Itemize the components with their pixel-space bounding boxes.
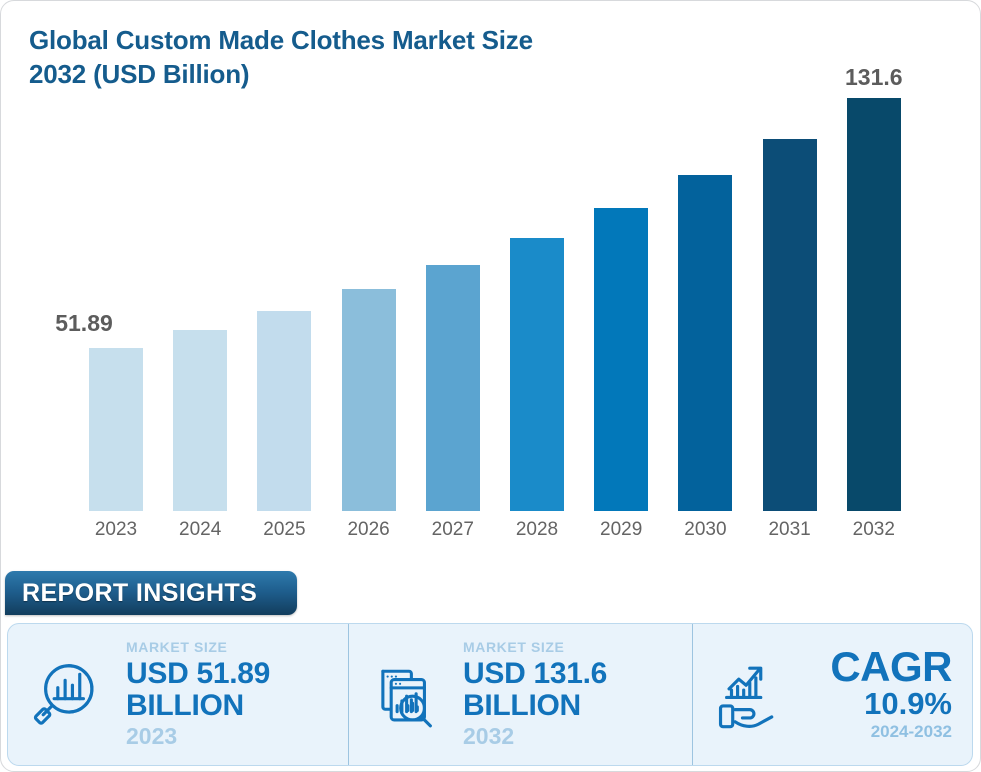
bar-2026 bbox=[342, 289, 396, 511]
x-axis-tick-2028: 2028 bbox=[493, 519, 581, 541]
x-axis-tick-2023: 2023 bbox=[72, 519, 160, 541]
cagr-label: CAGR bbox=[803, 646, 952, 687]
infographic-card: Global Custom Made Clothes Market Size 2… bbox=[0, 0, 981, 772]
x-axis-tick-2027: 2027 bbox=[409, 519, 497, 541]
insight-card-cagr: CAGR 10.9% 2024-2032 bbox=[692, 624, 972, 765]
bar-2029 bbox=[594, 208, 648, 511]
bar-2032 bbox=[847, 98, 901, 511]
x-axis-tick-2031: 2031 bbox=[746, 519, 834, 541]
insight-card-market-size-2032: MARKET SIZE USD 131.6 BILLION 2032 bbox=[348, 624, 692, 765]
x-axis-tick-2024: 2024 bbox=[156, 519, 244, 541]
bar-2031 bbox=[763, 139, 817, 511]
cagr-value: 10.9% bbox=[803, 687, 952, 721]
card-value-line-1: USD 131.6 bbox=[463, 658, 686, 690]
x-axis-tick-2032: 2032 bbox=[830, 519, 918, 541]
bar-2023 bbox=[89, 348, 143, 511]
magnifier-bar-chart-icon bbox=[14, 656, 126, 734]
x-axis-tick-2025: 2025 bbox=[240, 519, 328, 541]
bar-value-label-2032: 131.6 bbox=[817, 64, 931, 91]
card-value-line-2: BILLION bbox=[463, 690, 686, 722]
report-insights-banner: REPORT INSIGHTS bbox=[5, 571, 297, 615]
hand-growth-chart-icon bbox=[699, 656, 803, 734]
card-caption: MARKET SIZE bbox=[126, 640, 342, 655]
x-axis-tick-2026: 2026 bbox=[325, 519, 413, 541]
x-axis-tick-2029: 2029 bbox=[577, 519, 665, 541]
card-year: 2023 bbox=[126, 723, 342, 749]
cagr-range: 2024-2032 bbox=[803, 722, 952, 742]
card-year: 2032 bbox=[463, 723, 686, 749]
x-axis-tick-2030: 2030 bbox=[661, 519, 749, 541]
card-value-line-1: USD 51.89 bbox=[126, 658, 342, 690]
card-value-line-2: BILLION bbox=[126, 690, 342, 722]
report-insights-label: REPORT INSIGHTS bbox=[5, 579, 257, 608]
bar-2025 bbox=[257, 311, 311, 511]
insight-card-market-size-2023: MARKET SIZE USD 51.89 BILLION 2023 bbox=[8, 624, 348, 765]
windows-chart-magnifier-icon bbox=[355, 657, 463, 733]
bar-value-label-2023: 51.89 bbox=[27, 310, 141, 337]
bar-2027 bbox=[426, 265, 480, 511]
bar-2030 bbox=[678, 175, 732, 511]
bar-2028 bbox=[510, 238, 564, 511]
bar-2024 bbox=[173, 330, 227, 511]
bar-chart: 51.8920232024202520262027202820292030203… bbox=[1, 1, 981, 561]
insight-cards: MARKET SIZE USD 51.89 BILLION 2023 bbox=[7, 623, 973, 766]
card-caption: MARKET SIZE bbox=[463, 640, 686, 655]
